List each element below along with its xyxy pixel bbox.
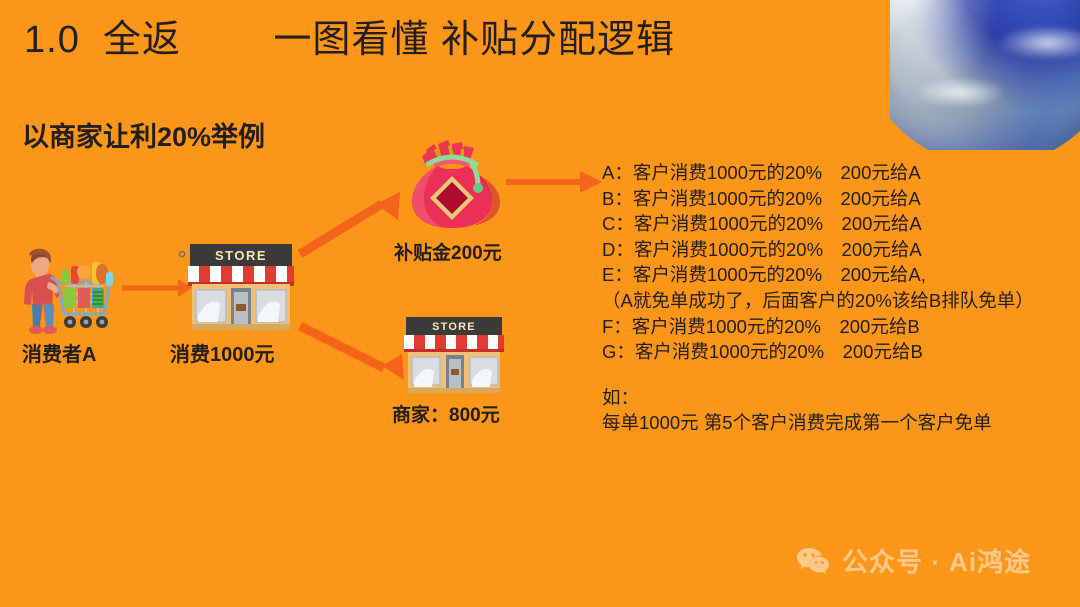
label-spend-amount: 消费1000元 [170,338,275,367]
label-subsidy-amount: 补贴金200元 [394,238,502,265]
example-text: 每单1000元 第5个客户消费完成第一个客户免单 [602,410,1062,436]
breakdown-line-f: F：客户消费1000元的20% 200元给B [602,314,1062,340]
label-consumer: 消费者A [22,338,96,367]
slide-title: 1.0 全返 一图看懂 补贴分配逻辑 [24,8,675,63]
shopper-with-cart-icon [14,248,132,336]
wechat-icon [796,546,830,576]
svg-text:STORE: STORE [215,248,267,263]
globe-decoration [890,0,1080,150]
watermark: 公众号 · Ai鸿途 [796,542,1031,579]
cloud-band-icon [996,25,1080,62]
breakdown-line-c: C：客户消费1000元的20% 200元给A [602,211,1062,237]
watermark-text: 公众号 · Ai鸿途 [842,542,1031,579]
example-label: 如： [602,385,1062,411]
subheading: 以商家让利20%举例 [22,115,265,154]
breakdown-line-b: B：客户消费1000元的20% 200元给A [602,186,1062,212]
spacer [602,365,1062,385]
storefront-icon: STORE [178,238,294,330]
breakdown-note: （A就免单成功了，后面客户的20%该给B排队免单） [602,288,1062,314]
arrow-store-to-merchant-icon [296,318,408,380]
cloud-band-icon [912,77,1006,108]
breakdown-line-g: G：客户消费1000元的20% 200元给B [602,339,1062,365]
slide-canvas: 1.0 全返 一图看懂 补贴分配逻辑 以商家让利20%举例 [0,0,1080,607]
breakdown-line-d: D：客户消费1000元的20% 200元给A [602,237,1062,263]
label-merchant-amount: 商家：800元 [392,400,500,427]
money-bag-icon [404,140,500,232]
arrow-subsidy-to-breakdown-icon [506,168,604,196]
storefront-merchant-icon: STORE [400,313,508,393]
breakdown-line-a: A：客户消费1000元的20% 200元给A [602,160,1062,186]
breakdown-text-block: A：客户消费1000元的20% 200元给A B：客户消费1000元的20% 2… [602,160,1062,436]
svg-text:STORE: STORE [432,321,476,333]
arrow-store-to-subsidy-icon [296,192,406,262]
earth-globe-icon [890,0,1080,150]
breakdown-line-e: E：客户消费1000元的20% 200元给A, [602,262,1062,288]
